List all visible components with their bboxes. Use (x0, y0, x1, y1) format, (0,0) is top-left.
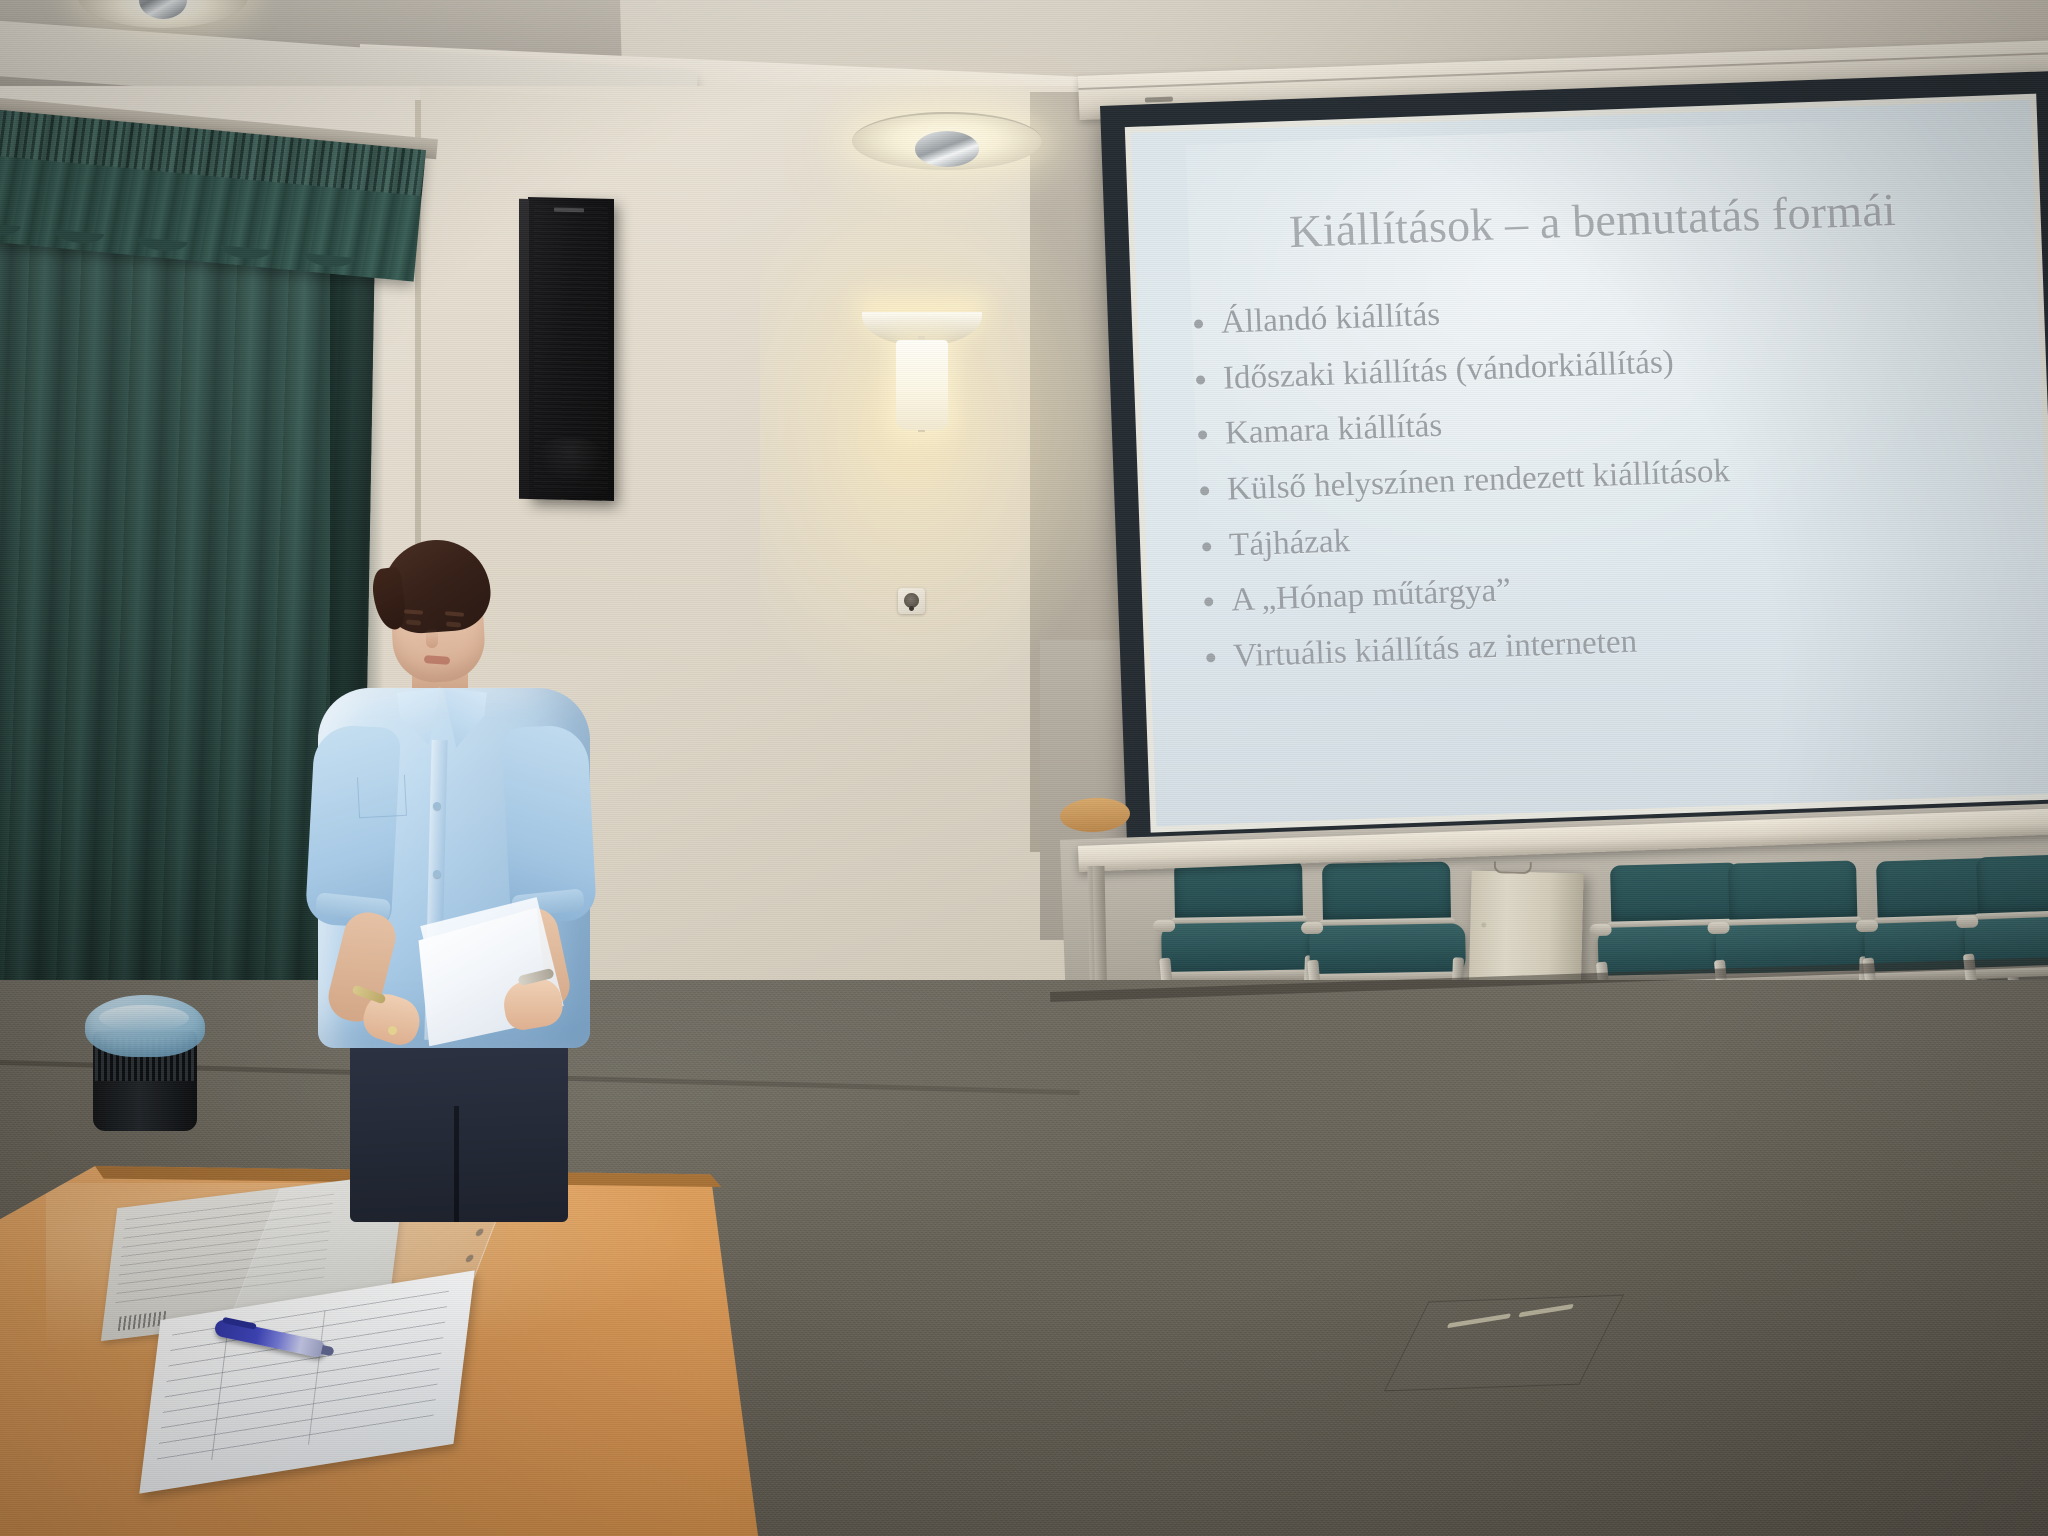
wastebasket[interactable] (85, 995, 205, 1131)
list-item: A „Hónap műtárgya” (1204, 554, 2035, 619)
bin-liner-fold (99, 1005, 189, 1031)
bullet-text: Tájházak (1229, 524, 1351, 563)
list-item: Külső helyszínen rendezett kiállítások (1200, 443, 2031, 508)
column-hook-icon (1494, 861, 1532, 874)
speaker-logo (554, 208, 584, 213)
bullet-dot-icon (1204, 597, 1213, 606)
screen-inner-border: Kiállítások – a bemutatás formái Állandó… (1125, 94, 2048, 833)
slide-surface: Kiállítások – a bemutatás formái Állandó… (1131, 100, 2048, 827)
bullet-text: Külső helyszínen rendezett kiállítások (1227, 454, 1731, 507)
chair-back (1728, 861, 1857, 926)
trouser-seam (454, 1106, 459, 1222)
chair-arm (1707, 922, 1729, 935)
presenter-nose (426, 628, 438, 648)
presenter-trousers (350, 1022, 568, 1222)
shirt-pocket (357, 775, 407, 818)
bullet-dot-icon (1200, 486, 1209, 495)
sconce-tube (896, 340, 948, 430)
projection-screen: Kiállítások – a bemutatás formái Állandó… (1100, 71, 2048, 860)
bullet-text: Időszaki kiállítás (vándorkiállítás) (1222, 345, 1674, 396)
hatch-slot (1518, 1304, 1574, 1318)
bullet-text: Kamara kiállítás (1224, 409, 1442, 452)
chair-arm (1856, 920, 1878, 933)
bullet-dot-icon (1196, 375, 1205, 384)
bullet-dot-icon (1198, 431, 1207, 440)
outlet-pin (909, 606, 914, 611)
ceiling-light-chrome (139, 0, 187, 19)
presenter (300, 540, 620, 1180)
list-item: Virtuális kiállítás az interneten (1206, 610, 2037, 675)
loudspeaker-icon (528, 197, 614, 501)
casing-clip (1145, 97, 1173, 103)
bullet-dot-icon (1202, 542, 1211, 551)
chair-back (1322, 862, 1451, 926)
chair-back (1610, 863, 1739, 928)
chair-arm (1589, 924, 1611, 937)
form-ruled-lines (156, 1291, 449, 1469)
speaker-woofer (538, 437, 604, 485)
speaker-side (519, 199, 529, 499)
presenter-mouth (424, 655, 450, 665)
chair-back (1174, 860, 1303, 924)
chair-arm (1301, 922, 1323, 934)
shirt-button (433, 802, 441, 810)
bullet-text: A „Hónap műtárgya” (1231, 573, 1512, 618)
list-item: Időszaki kiállítás (vándorkiállítás) (1195, 332, 2026, 397)
ring (388, 1026, 397, 1035)
power-outlet-icon (898, 588, 925, 614)
list-item: Kamara kiállítás (1197, 388, 2028, 453)
bullet-dot-icon (1206, 653, 1215, 662)
chair-arm (1153, 920, 1175, 932)
ceiling-light-reflector (915, 131, 980, 167)
hatch-slot (1447, 1313, 1511, 1328)
chair-arm (1956, 915, 1978, 928)
chair-back (1976, 853, 2048, 919)
ceiling-dish-light-icon (852, 112, 1042, 170)
bin-liner-bag (85, 995, 205, 1057)
conference-room-photo: Kiállítások – a bemutatás formái Állandó… (0, 0, 2048, 1536)
slide-bullet-list: Állandó kiállítás Időszaki kiállítás (vá… (1193, 276, 2037, 696)
wall-sconce-icon (862, 300, 982, 430)
bullet-dot-icon (1194, 319, 1203, 328)
bullet-text: Virtuális kiállítás az interneten (1233, 625, 1638, 674)
bullet-text: Állandó kiállítás (1220, 298, 1440, 341)
list-item: Tájházak (1202, 499, 2033, 564)
shirt-button (433, 870, 441, 878)
